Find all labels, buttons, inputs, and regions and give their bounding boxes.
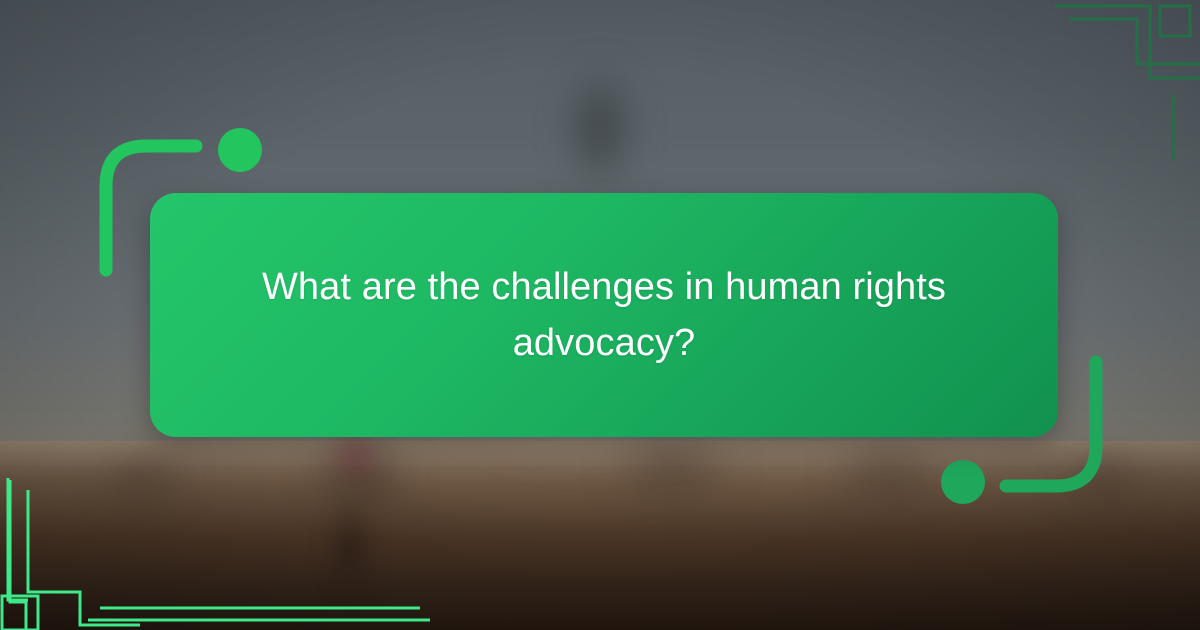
question-text: What are the challenges in human rights … — [246, 259, 962, 371]
question-card: What are the challenges in human rights … — [150, 193, 1058, 437]
social-card-canvas: What are the challenges in human rights … — [0, 0, 1200, 630]
